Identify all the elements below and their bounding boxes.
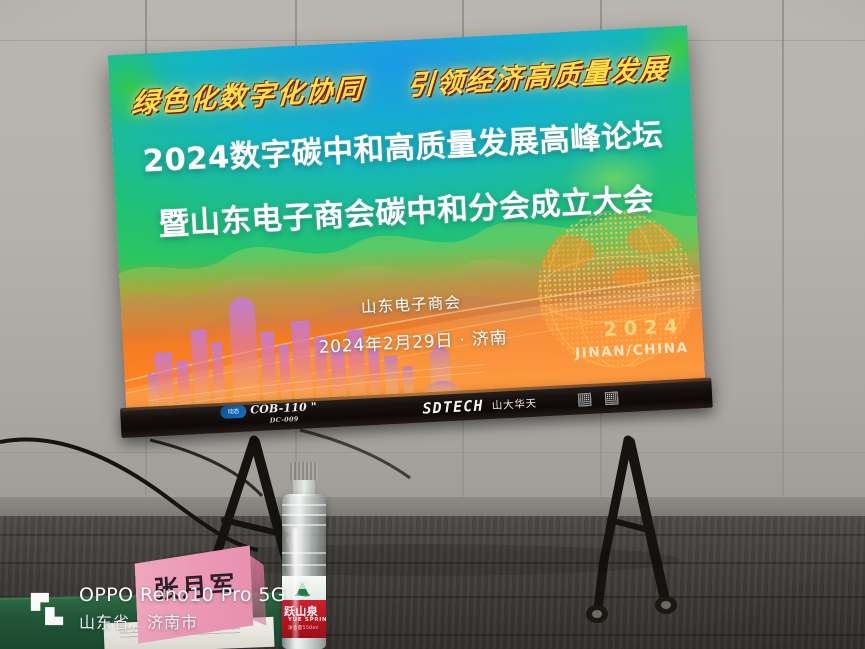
tagline-right-text: 引领经济高质量发展 <box>406 47 669 103</box>
bottle-ridge <box>282 504 326 506</box>
dongtai-logo-icon: 动态 <box>220 405 247 419</box>
bottle-body: 跃山泉 YUE SPRING 净含量550ml <box>282 494 326 649</box>
bezel-cert-labels <box>578 392 619 407</box>
screen-date-city: 2024年2月29日 · 济南 <box>318 323 508 358</box>
sdtech-brand-label-cn: 山大华天 <box>491 395 537 412</box>
bottle-label-upper <box>282 576 326 602</box>
sdtech-brand-label: SDTECH <box>422 396 484 417</box>
screen-tagline: 绿色化数字化协同 引领经济高质量发展 <box>130 47 669 121</box>
watermark-device: OPPO Reno10 Pro 5G <box>79 584 286 606</box>
bezel-left-branding: 动态 COB-110 " DC-009 <box>220 401 318 427</box>
screen-year-badge: 2024 <box>603 315 685 341</box>
watermark-location: 山东省，济南市 <box>79 609 286 633</box>
bottle-label-lower: 跃山泉 YUE SPRING 净含量550ml <box>282 600 326 638</box>
screen-title-line1: 2024数字碳中和高质量发展高峰论坛 <box>142 110 664 181</box>
oppo-logo-icon <box>28 590 66 628</box>
screen-organizer: 山东电子商会 <box>360 290 461 317</box>
bottle-water-base <box>282 638 326 649</box>
cert-qr-label-icon <box>605 392 619 406</box>
bottle-cap[interactable] <box>290 462 318 481</box>
watermark-text: OPPO Reno10 Pro 5G 山东省，济南市 <box>79 584 286 633</box>
bottle-ridge <box>282 514 326 516</box>
bottle-ridge <box>282 564 326 566</box>
bottle-specular-highlight <box>293 528 298 649</box>
led-display[interactable]: 绿色化数字化协同 引领经济高质量发展 2024数字碳中和高质量发展高峰论坛 暨山… <box>108 25 713 465</box>
screen-title-line2: 暨山东电子商会碳中和分会成立大会 <box>157 174 655 243</box>
bottle-ridge <box>282 552 326 554</box>
cert-qr-label-icon <box>578 393 592 407</box>
tagline-left-text: 绿色化数字化协同 <box>130 67 364 121</box>
bottle-ridge <box>282 524 326 526</box>
bezel-model-block: COB-110 " DC-009 <box>250 401 318 425</box>
photo-scene: 绿色化数字化协同 引领经济高质量发展 2024数字碳中和高质量发展高峰论坛 暨山… <box>0 0 865 649</box>
camera-watermark: OPPO Reno10 Pro 5G 山东省，济南市 <box>28 584 286 633</box>
led-screen-panel[interactable]: 绿色化数字化协同 引领经济高质量发展 2024数字碳中和高质量发展高峰论坛 暨山… <box>108 25 706 409</box>
bezel-center-branding: SDTECH 山大华天 <box>422 394 537 418</box>
